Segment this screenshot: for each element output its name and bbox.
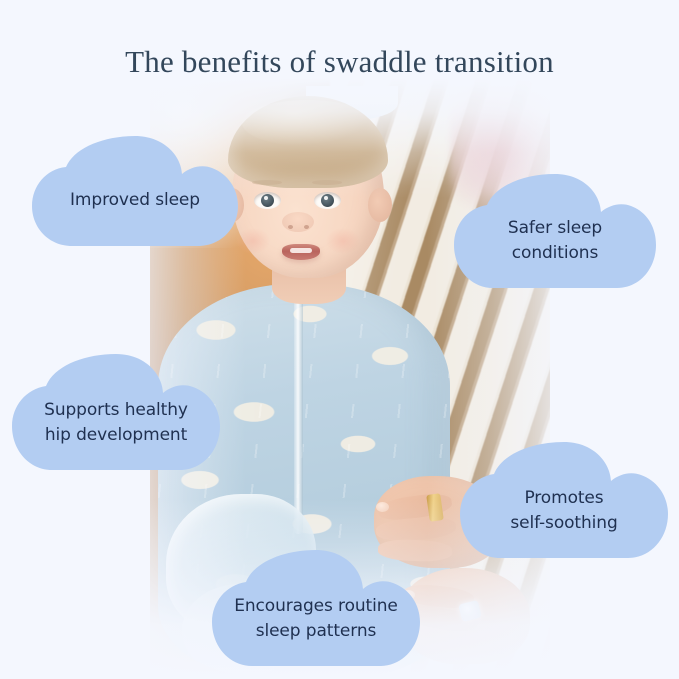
- callout-text-improved-sleep: Improved sleep: [30, 188, 240, 213]
- callout-line: Safer sleep: [452, 216, 658, 241]
- callout-line: Promotes: [458, 486, 670, 511]
- callout-line: hip development: [10, 423, 222, 448]
- baby-nostril-right: [304, 225, 309, 229]
- callout-line: self-soothing: [458, 511, 670, 536]
- callout-line: Encourages routine: [210, 594, 422, 619]
- callout-text-sleep-patterns: Encourages routine sleep patterns: [210, 594, 422, 643]
- infographic-canvas: The benefits of swaddle transition Impro…: [0, 0, 679, 679]
- callout-line: conditions: [452, 241, 658, 266]
- callout-cloud-hip-development[interactable]: Supports healthy hip development: [10, 352, 222, 472]
- callout-text-self-soothing: Promotes self-soothing: [458, 486, 670, 535]
- baby-cheek-right: [326, 228, 360, 254]
- callout-cloud-improved-sleep[interactable]: Improved sleep: [30, 134, 240, 248]
- callout-line: Supports healthy: [10, 398, 222, 423]
- callout-text-hip-development: Supports healthy hip development: [10, 398, 222, 447]
- callout-cloud-sleep-patterns[interactable]: Encourages routine sleep patterns: [210, 548, 422, 668]
- callout-cloud-self-soothing[interactable]: Promotes self-soothing: [458, 440, 670, 560]
- callout-line: sleep patterns: [210, 619, 422, 644]
- callout-cloud-safer-sleep[interactable]: Safer sleep conditions: [452, 172, 658, 290]
- callout-text-safer-sleep: Safer sleep conditions: [452, 216, 658, 265]
- page-title: The benefits of swaddle transition: [0, 44, 679, 80]
- callout-line: Improved sleep: [30, 188, 240, 213]
